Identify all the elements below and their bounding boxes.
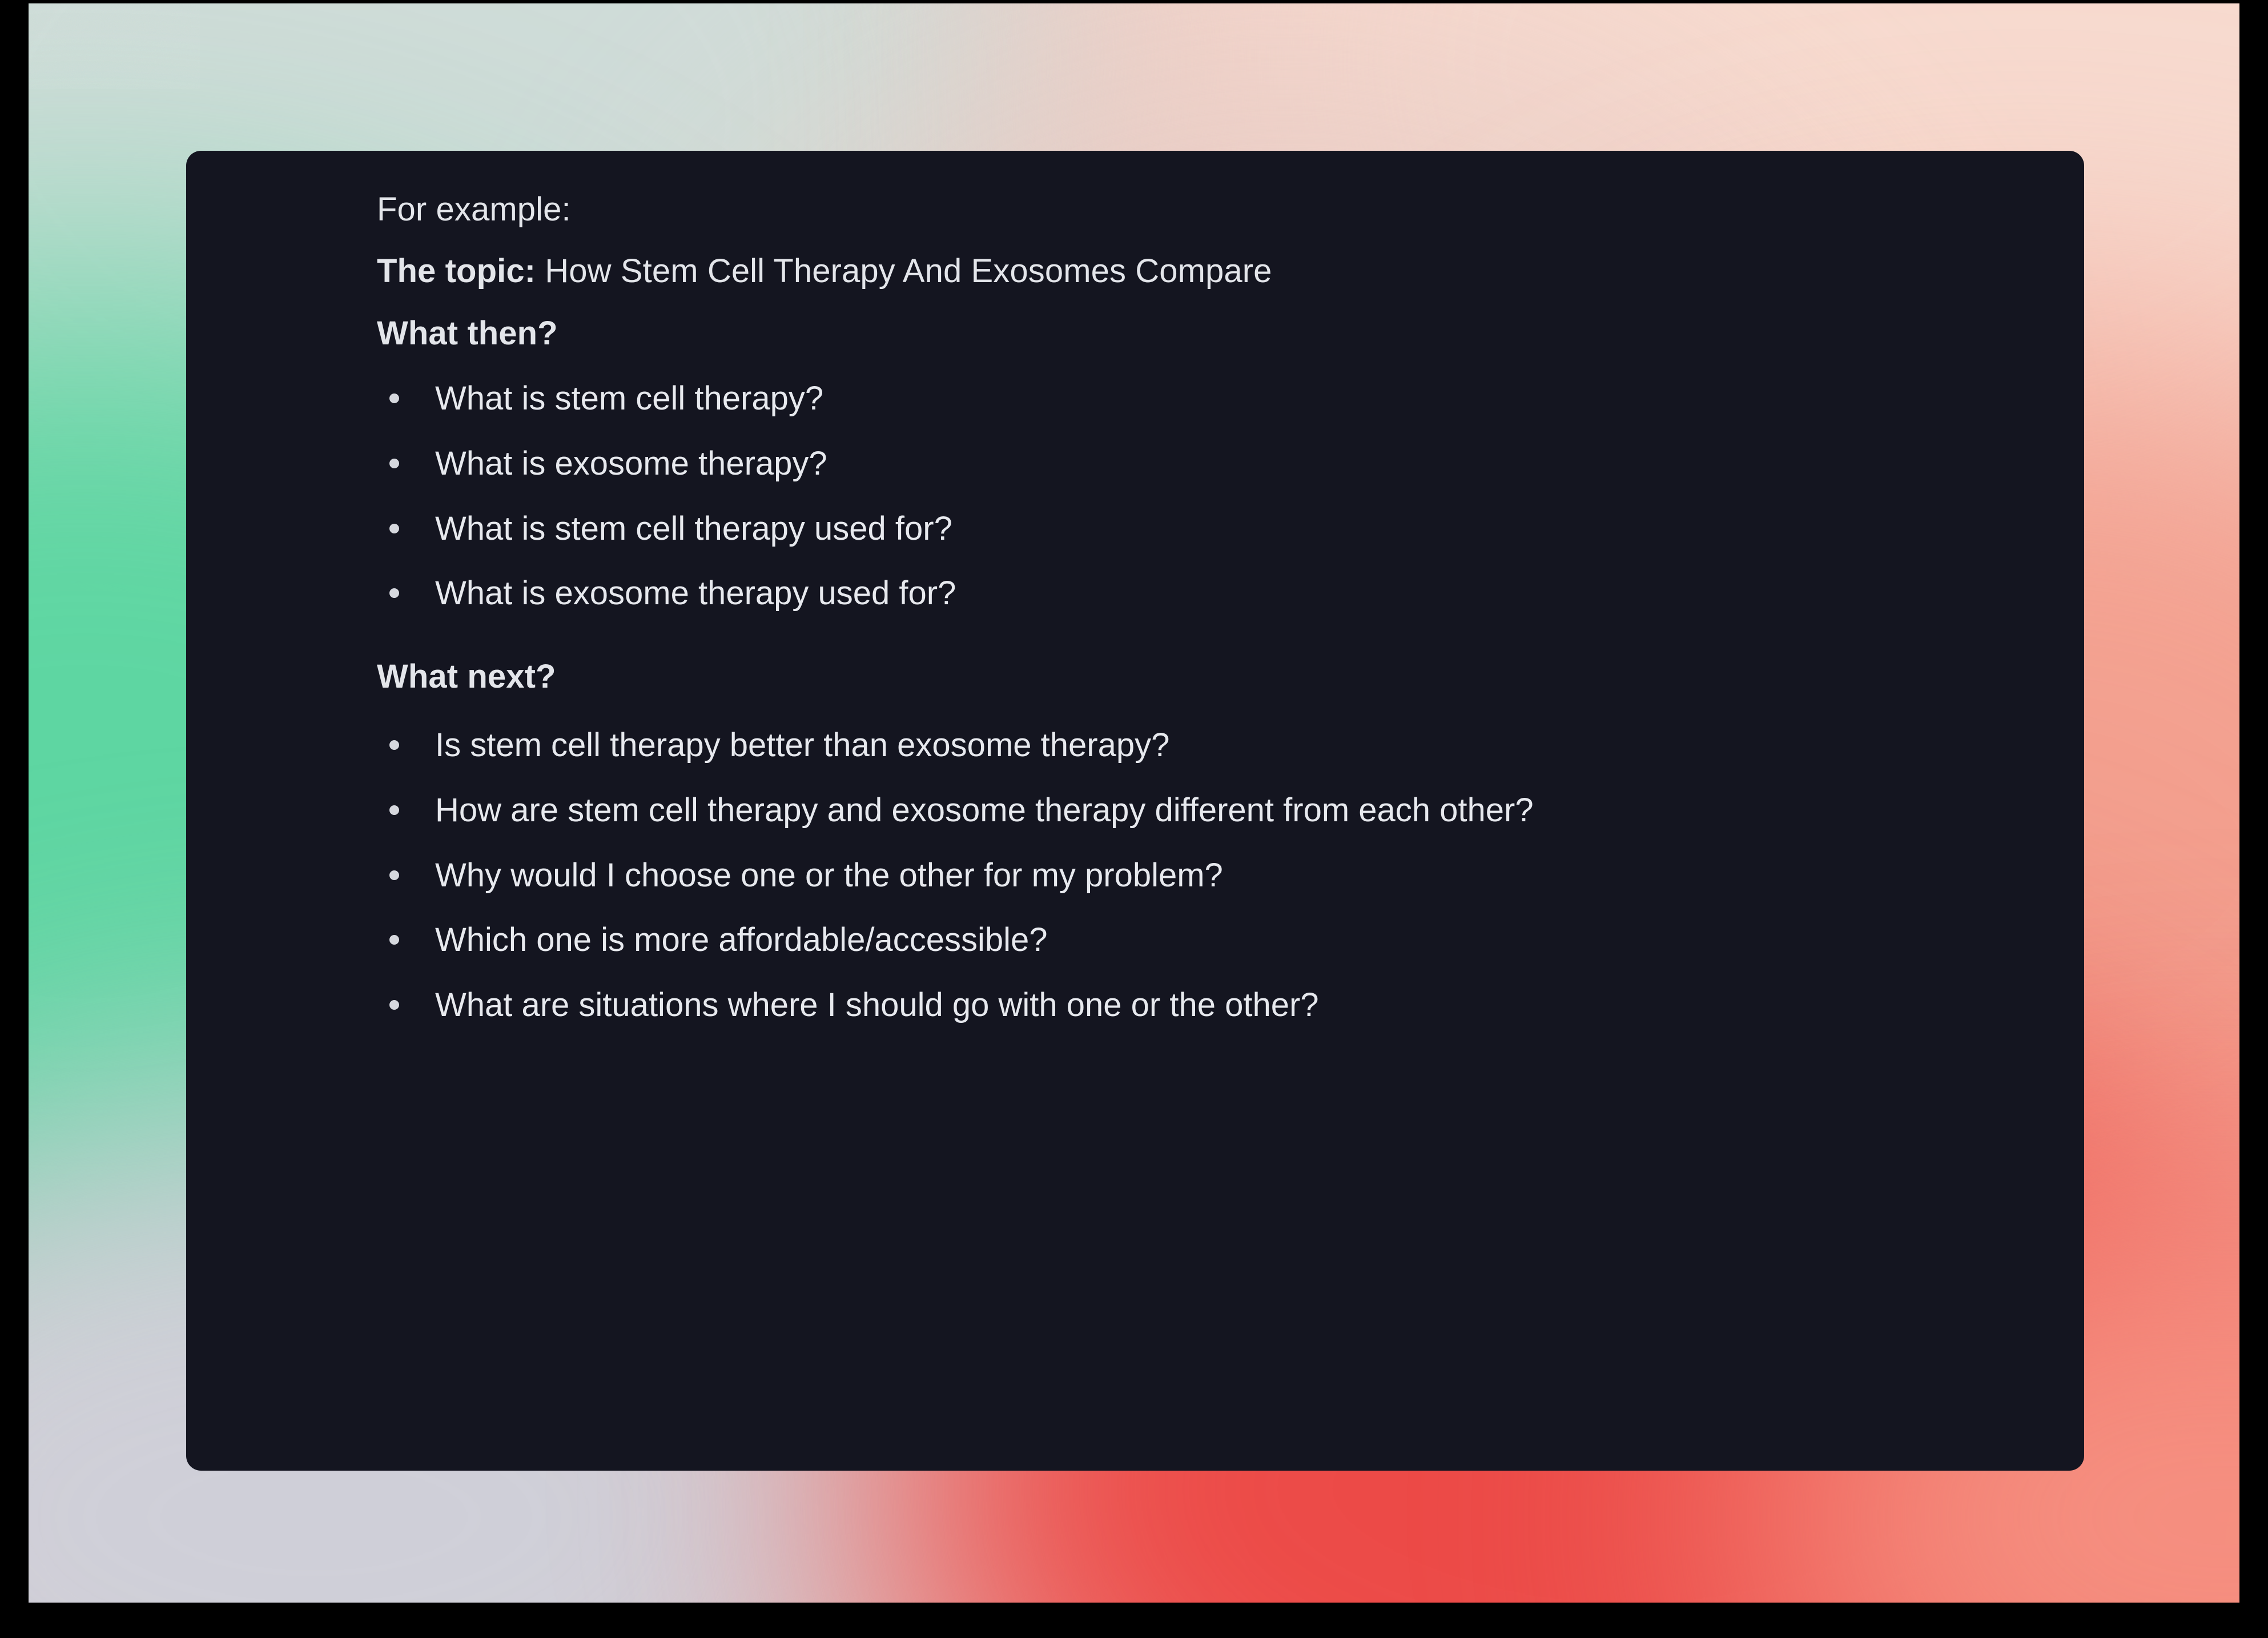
list-item: Why would I choose one or the other for … [377, 853, 1897, 898]
question-text: What is exosome therapy? [435, 445, 827, 482]
bullet-icon [389, 1000, 399, 1010]
bullet-icon [389, 935, 399, 945]
bullet-icon [389, 459, 399, 468]
section-heading-what-then: What then? [377, 295, 2016, 357]
section-heading-what-next: What next? [377, 641, 2016, 700]
list-item: How are stem cell therapy and exosome th… [377, 788, 1897, 833]
question-text: What is stem cell therapy used for? [435, 510, 952, 547]
screenshot-frame: For example: The topic: How Stem Cell Th… [0, 0, 2268, 1638]
question-text: Is stem cell therapy better than exosome… [435, 726, 1169, 764]
question-text: Which one is more affordable/accessible? [435, 921, 1048, 958]
topic-value: How Stem Cell Therapy And Exosomes Compa… [536, 252, 1272, 290]
question-list-what-then: What is stem cell therapy? What is exoso… [377, 357, 2016, 641]
question-text: Why would I choose one or the other for … [435, 857, 1223, 894]
bullet-icon [389, 740, 399, 750]
bullet-icon [389, 805, 399, 815]
intro-text: For example: [377, 177, 2016, 233]
list-item: Is stem cell therapy better than exosome… [377, 723, 1897, 768]
list-item: What are situations where I should go wi… [377, 983, 1897, 1027]
topic-label: The topic: [377, 252, 536, 290]
topic-line: The topic: How Stem Cell Therapy And Exo… [377, 233, 2016, 295]
list-item: What is stem cell therapy? [377, 376, 1897, 421]
list-item: Which one is more affordable/accessible? [377, 918, 1897, 962]
question-list-what-next: Is stem cell therapy better than exosome… [377, 700, 2016, 1033]
bullet-icon [389, 394, 399, 403]
content-card: For example: The topic: How Stem Cell Th… [186, 151, 2084, 1471]
bullet-icon [389, 524, 399, 533]
bullet-icon [389, 870, 399, 880]
question-text: What is exosome therapy used for? [435, 575, 956, 612]
question-text: What is stem cell therapy? [435, 380, 823, 417]
list-item: What is exosome therapy used for? [377, 571, 1897, 616]
list-item: What is stem cell therapy used for? [377, 507, 1897, 551]
bullet-icon [389, 588, 399, 598]
question-text: What are situations where I should go wi… [435, 986, 1319, 1023]
list-item: What is exosome therapy? [377, 441, 1897, 486]
question-text: How are stem cell therapy and exosome th… [435, 792, 1534, 829]
